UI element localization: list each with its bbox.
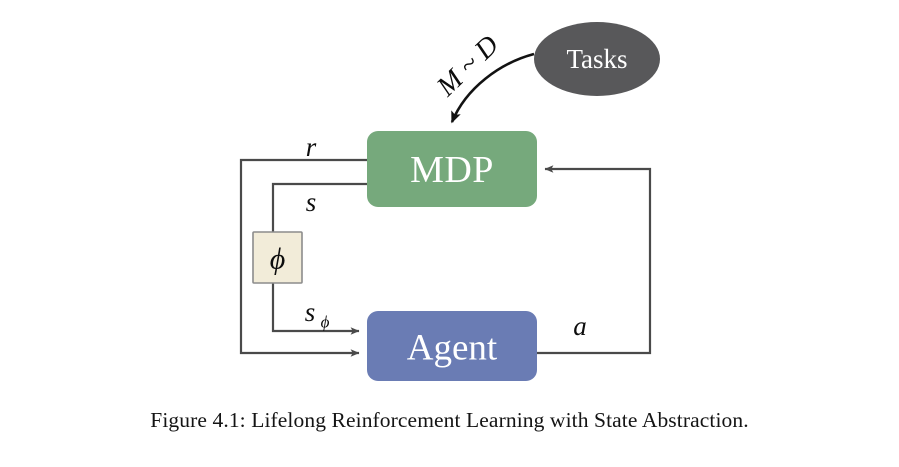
agent-label: Agent xyxy=(407,328,498,369)
edge-abstract-state-line xyxy=(273,283,359,331)
edge-label-action: a xyxy=(573,311,587,341)
mdp-label: MDP xyxy=(410,149,494,191)
tasks-label: Tasks xyxy=(566,44,627,74)
edge-label-abstract-state-base: s xyxy=(305,297,316,327)
diagram-canvas: ϕ MDP Agent Tasks r s s ϕ a M ~ D xyxy=(0,0,899,400)
edge-action-line xyxy=(537,169,650,353)
edge-label-abstract-state-subscript: ϕ xyxy=(321,313,330,332)
phi-label: ϕ xyxy=(270,243,286,276)
edge-label-reward: r xyxy=(306,132,317,162)
edge-label-state: s xyxy=(306,187,317,217)
edge-label-abstract-state: s ϕ xyxy=(305,297,330,332)
figure-container: ϕ MDP Agent Tasks r s s ϕ a M ~ D Figure… xyxy=(0,0,899,467)
edge-state-line xyxy=(273,184,367,232)
figure-caption: Figure 4.1: Lifelong Reinforcement Learn… xyxy=(0,408,899,433)
edge-label-sampling: M ~ D xyxy=(430,30,505,103)
